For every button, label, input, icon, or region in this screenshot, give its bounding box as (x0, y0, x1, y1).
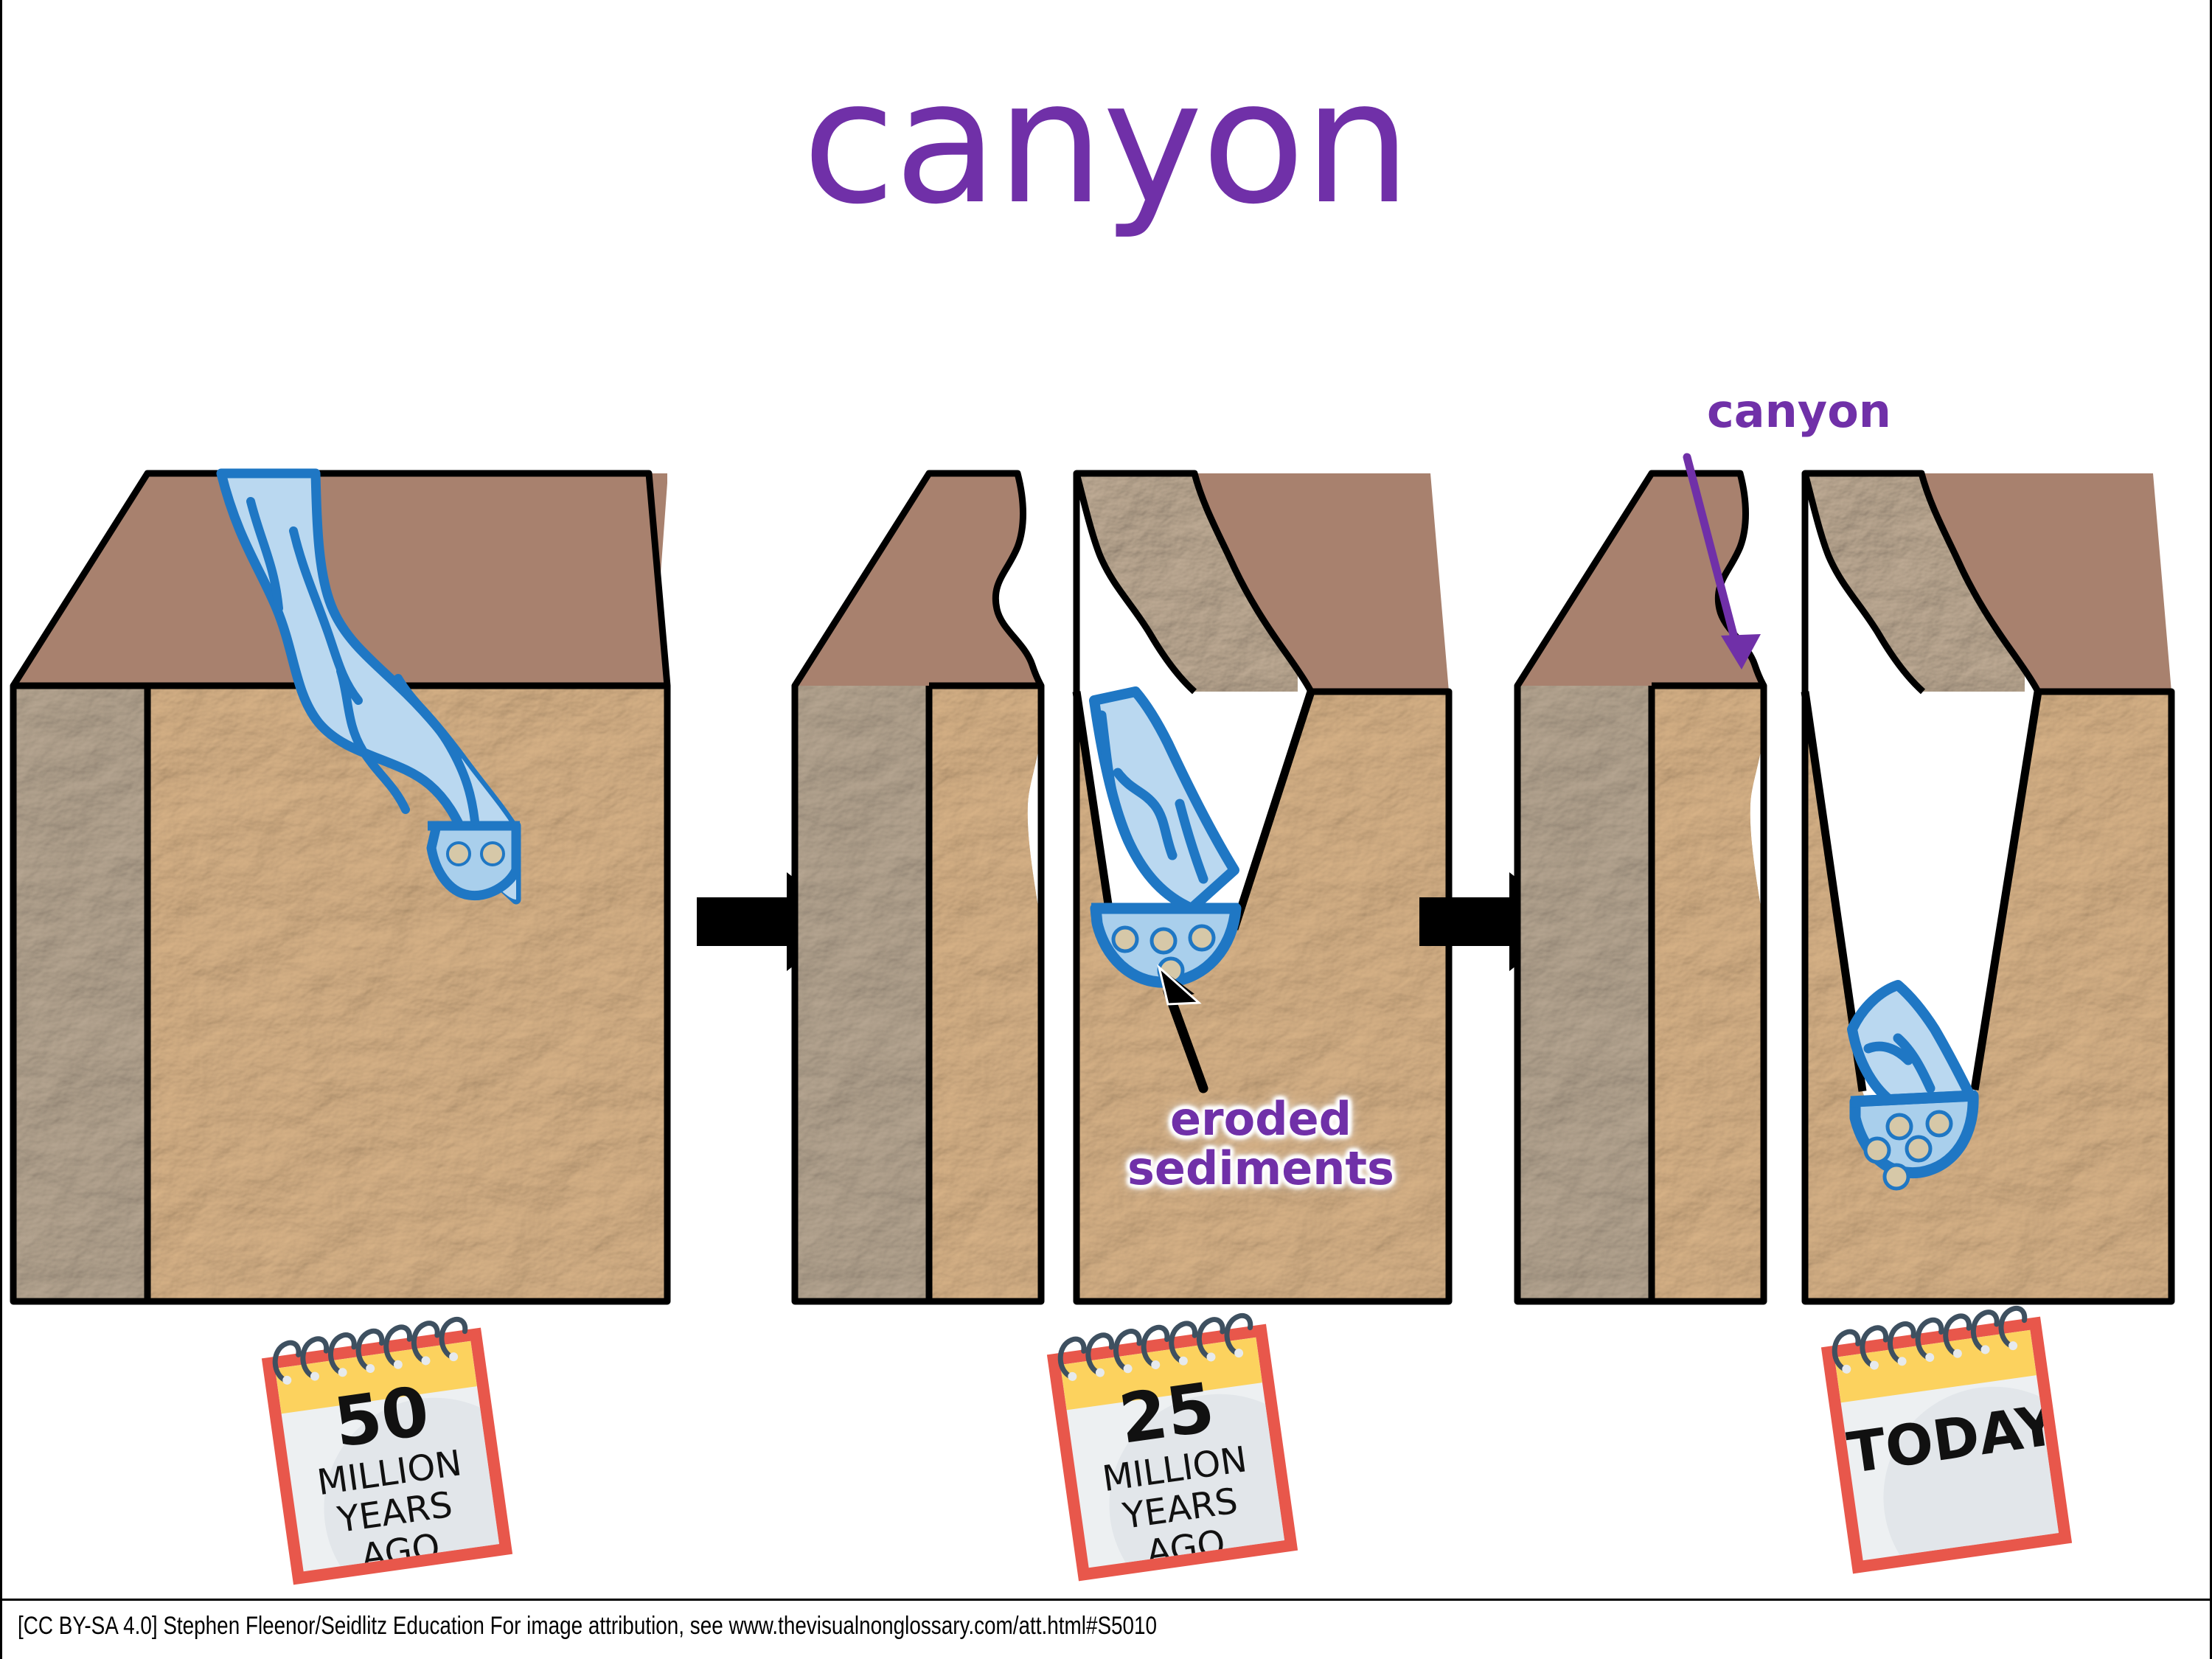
footer-divider (0, 1599, 2212, 1601)
panel-2-block (782, 457, 1489, 1327)
attribution-text: [CC BY-SA 4.0] Stephen Fleenor/Seidlitz … (18, 1612, 1157, 1641)
calendar-panel-1: 50 MILLION YEARS AGO (262, 1328, 512, 1585)
river-at-canyon-floor (1851, 985, 1976, 1189)
river-cross-section (431, 826, 516, 896)
label-eroded-sediments: eroded sediments (1106, 1095, 1416, 1194)
sediment-grain (481, 843, 504, 865)
calendar-panel-2: 25 MILLION YEARS AGO (1047, 1324, 1298, 1582)
diagram-canvas: canyon (0, 0, 2212, 1659)
calendar-panel-3: TODAY (1821, 1317, 2072, 1574)
canyon-pointer-arrow (1607, 428, 1902, 723)
page-title: canyon (0, 59, 2212, 229)
label-canyon: canyon (1644, 387, 1954, 437)
river-in-valley (1091, 692, 1239, 982)
block-top-soil (795, 473, 1041, 686)
sediment-grain (448, 843, 470, 865)
panel-1-block (0, 457, 708, 1327)
